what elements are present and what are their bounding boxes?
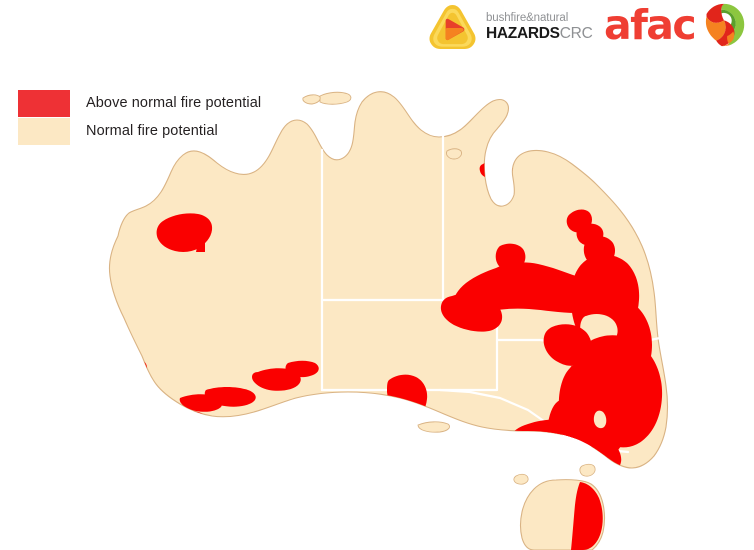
legend-label-above-normal: Above normal fire potential bbox=[86, 95, 261, 111]
bushfire-natural-hazards-crc-logo: bushfire&natural HAZARDSCRC bbox=[428, 4, 593, 50]
australia-map-svg bbox=[0, 0, 754, 550]
bnhcrc-wordmark-line2: HAZARDSCRC bbox=[486, 26, 593, 42]
legend-item-above-normal: Above normal fire potential bbox=[18, 89, 261, 117]
melville-island bbox=[320, 92, 351, 104]
flinders-island bbox=[580, 464, 595, 476]
afac-logo: afac bbox=[604, 2, 747, 48]
bnhcrc-wordmark-line1: bushfire&natural bbox=[486, 13, 593, 25]
afac-swirl-icon bbox=[701, 2, 747, 48]
legend-item-normal: Normal fire potential bbox=[18, 117, 261, 145]
legend-swatch-normal bbox=[18, 118, 70, 145]
legend-label-normal: Normal fire potential bbox=[86, 123, 218, 139]
groote-eylandt bbox=[446, 149, 461, 159]
map-container bbox=[0, 0, 754, 550]
afac-wordmark: afac bbox=[604, 3, 695, 47]
bnhcrc-triangle-icon bbox=[428, 4, 477, 50]
legend-swatch-above-normal bbox=[18, 90, 70, 117]
king-island bbox=[514, 474, 528, 484]
logo-bar: bushfire&natural HAZARDSCRC afac bbox=[0, 0, 754, 58]
fire-potential-legend: Above normal fire potential Normal fire … bbox=[18, 89, 261, 145]
bnhcrc-wordmark-hazards: HAZARDS bbox=[486, 25, 560, 42]
bnhcrc-wordmark-crc: CRC bbox=[560, 25, 593, 42]
bnhcrc-wordmark: bushfire&natural HAZARDSCRC bbox=[486, 13, 593, 42]
